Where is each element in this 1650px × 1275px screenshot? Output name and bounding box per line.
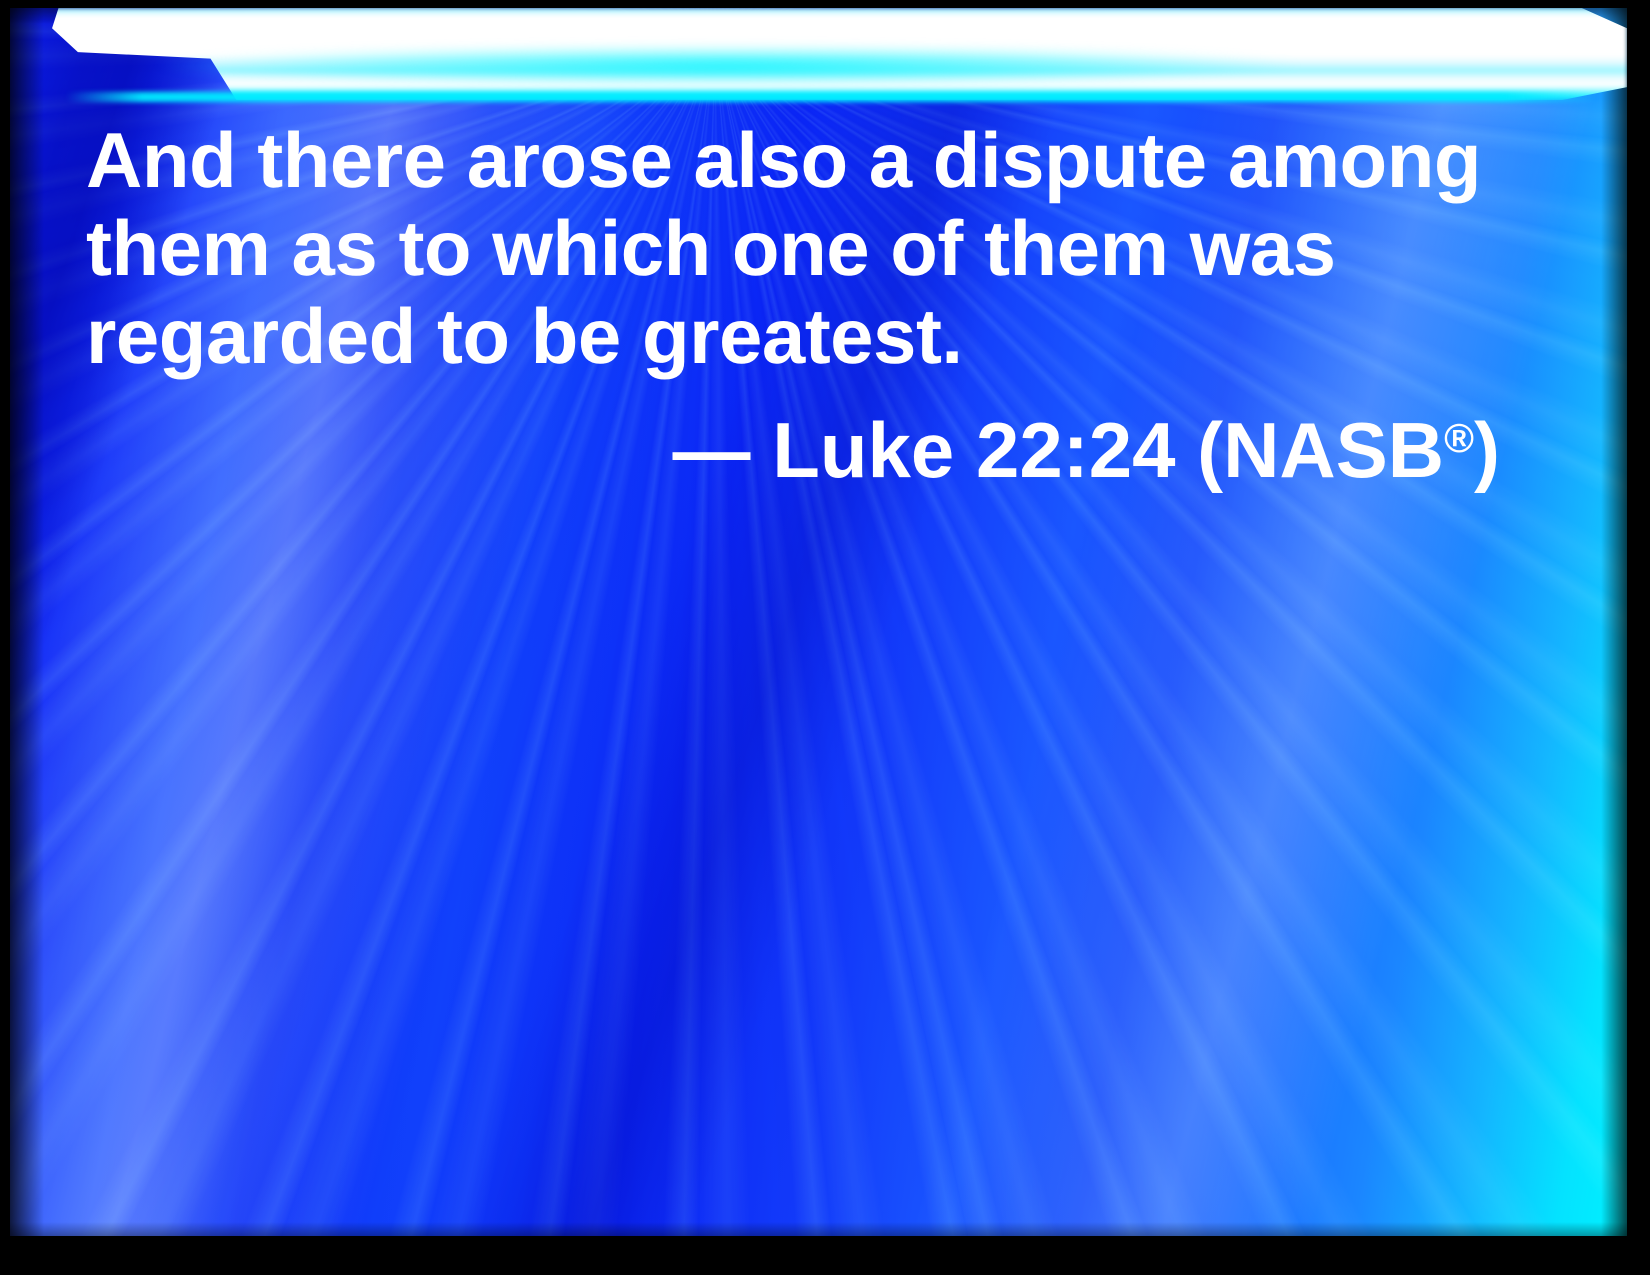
verse-attribution: — Luke 22:24 (NASB®): [86, 394, 1556, 494]
attribution-em-dash: —: [673, 406, 751, 494]
registered-trademark-icon: ®: [1444, 415, 1474, 461]
verse-line-1: And there arose also a dispute among: [86, 116, 1556, 204]
attribution-version-open: (NASB: [1197, 406, 1444, 494]
top-bar-cyan-underline: [66, 92, 1596, 102]
verse-line-3: regarded to be greatest.: [86, 292, 1556, 380]
verse-line-2: them as to which one of them was: [86, 204, 1556, 292]
artwork-panel: And there arose also a dispute among the…: [10, 8, 1627, 1236]
attribution-version-close: ): [1474, 406, 1500, 494]
verse-text-block: And there arose also a dispute among the…: [86, 116, 1556, 494]
bible-verse-slide: And there arose also a dispute among the…: [0, 0, 1650, 1275]
attribution-reference: 22:24: [976, 406, 1176, 494]
attribution-book: Luke: [772, 406, 954, 494]
top-highlight-bar: [10, 8, 1627, 100]
